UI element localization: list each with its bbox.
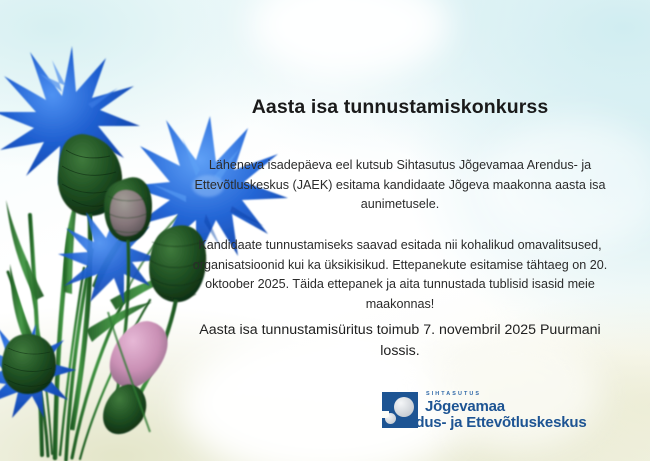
logo-circle-large xyxy=(394,397,414,417)
details-paragraph: Kandidaate tunnustamiseks saavad esitada… xyxy=(185,236,615,314)
event-paragraph: Aasta isa tunnustamisüritus toimub 7. no… xyxy=(190,320,610,362)
jaek-logo-mark-icon xyxy=(382,392,418,428)
page-title: Aasta isa tunnustamiskonkurss xyxy=(150,96,650,119)
intro-paragraph: Läheneva isadepäeva eel kutsub Sihtasutu… xyxy=(190,156,610,215)
logo-notch xyxy=(382,411,389,418)
jaek-logo: SIHTASUTUS Jõgevamaa Arendus- ja Ettevõt… xyxy=(382,392,586,430)
logo-kicker: SIHTASUTUS xyxy=(426,392,586,397)
poster-canvas: Aasta isa tunnustamiskonkurss Läheneva i… xyxy=(0,0,650,461)
jaek-logo-wordmark: SIHTASUTUS Jõgevamaa Arendus- ja Ettevõt… xyxy=(425,392,586,430)
logo-name-line1: Jõgevamaa xyxy=(425,399,586,414)
